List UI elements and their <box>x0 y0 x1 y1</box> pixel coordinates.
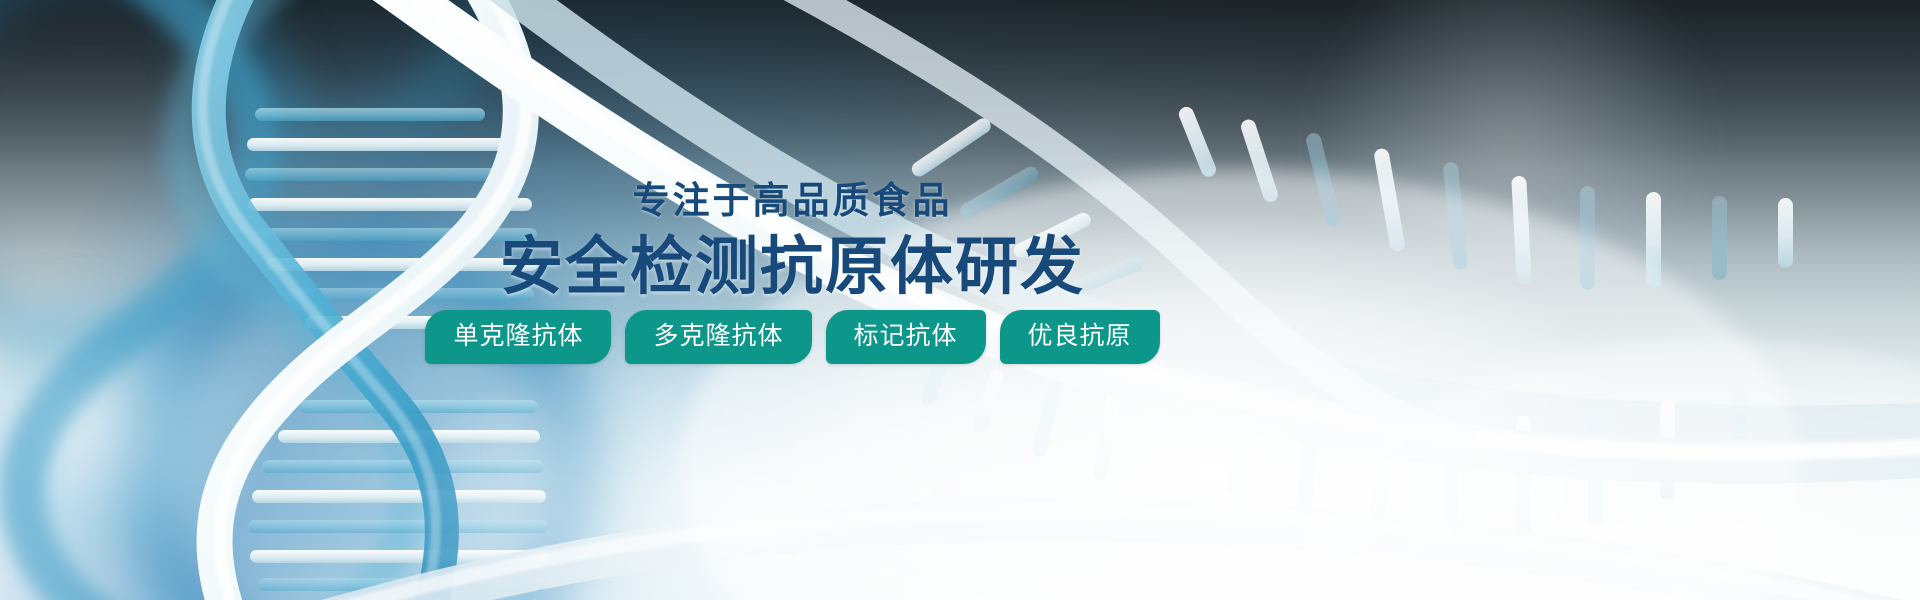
background-white-glow <box>0 0 1920 600</box>
hero-banner: 专注于高品质食品 安全检测抗原体研发 单克隆抗体 多克隆抗体 标记抗体 优良抗原 <box>0 0 1920 600</box>
hero-tag-list: 单克隆抗体 多克隆抗体 标记抗体 优良抗原 <box>0 310 1585 364</box>
hero-tag-polyclonal-antibody[interactable]: 多克隆抗体 <box>625 310 811 364</box>
hero-tag-labeled-antibody[interactable]: 标记抗体 <box>826 310 986 364</box>
hero-tag-premium-antigen[interactable]: 优良抗原 <box>1000 310 1160 364</box>
hero-tag-monoclonal-antibody[interactable]: 单克隆抗体 <box>425 310 611 364</box>
